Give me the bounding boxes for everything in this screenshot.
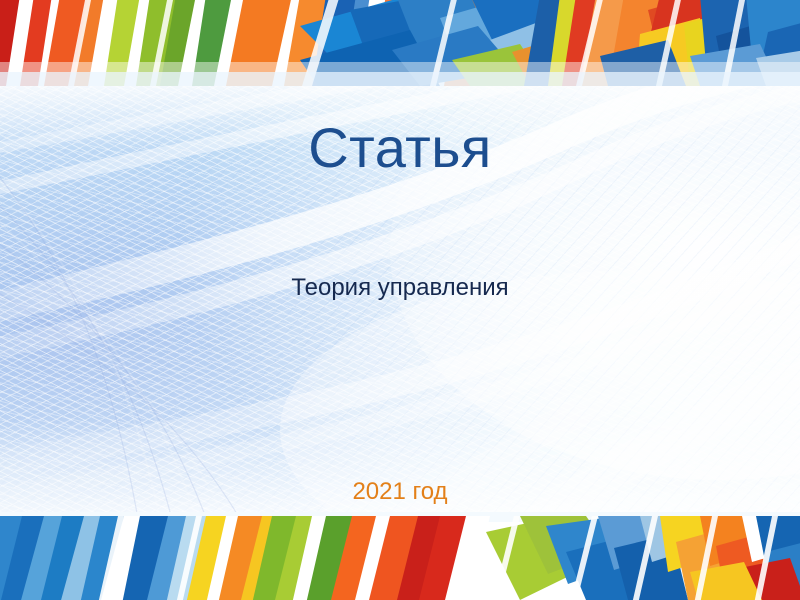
slide-title[interactable]: Статья	[0, 116, 800, 180]
geometric-color-border-bottom	[0, 512, 800, 600]
slide-year[interactable]: 2021 год	[0, 477, 800, 507]
slide-subtitle[interactable]: Теория управления	[0, 273, 800, 303]
presentation-slide: Статья Теория управления 2021 год	[0, 0, 800, 600]
geometric-color-border-top	[0, 0, 800, 86]
